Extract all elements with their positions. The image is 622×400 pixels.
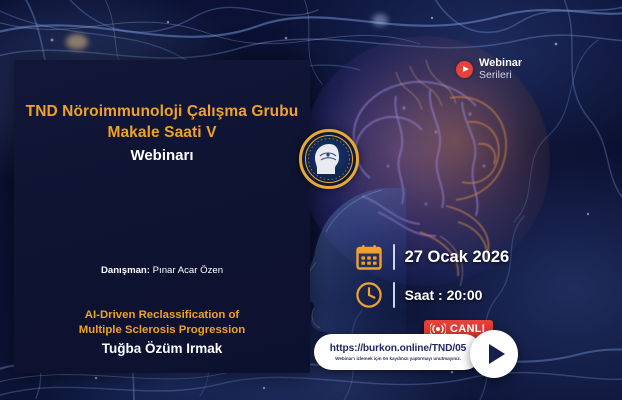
time-divider <box>393 282 395 308</box>
advisor-name: Pınar Acar Özen <box>153 265 223 276</box>
title-line-1: TND Nöroimmunoloji Çalışma Grubu <box>14 102 310 121</box>
topic-block: AI-Driven Reclassification of Multiple S… <box>14 308 310 360</box>
title-line-2: Makale Saati V <box>14 121 310 144</box>
registration-note: Webinar'ı izlemek için ön kaydınızı yapt… <box>335 356 461 361</box>
face-shape <box>297 188 406 358</box>
time-row: Saat : 20:00 <box>355 281 482 309</box>
clock-icon <box>355 281 383 309</box>
content-panel: TND Nöroimmunoloji Çalışma Grubu Makale … <box>14 60 310 373</box>
webinar-poster: TND Nöroimmunoloji Çalışma Grubu Makale … <box>0 0 622 400</box>
series-line-1: Webinar <box>479 58 522 70</box>
speaker-name: Tuğba Özüm Irmak <box>14 338 310 360</box>
date-value: 27 Ocak 2026 <box>405 248 510 267</box>
topic-line-2: Multiple Sclerosis Progression <box>14 323 310 338</box>
webinar-series-badge: Webinar Serileri <box>456 58 522 81</box>
tnd-society-emblem <box>299 129 359 189</box>
advisor-label: Danışman: <box>101 265 150 276</box>
title-line-3: Webinarı <box>14 144 310 168</box>
background-glow <box>66 34 88 50</box>
play-circle-icon <box>456 61 473 78</box>
time-value: Saat : 20:00 <box>405 287 483 303</box>
background-glow <box>372 14 388 26</box>
series-line-2: Serileri <box>479 70 522 81</box>
play-button-icon[interactable] <box>470 330 518 378</box>
calendar-icon <box>355 243 383 271</box>
registration-url-pill[interactable]: https://burkon.online/TND/05 Webinar'ı i… <box>314 334 482 370</box>
advisor-line: Danışman: Pınar Acar Özen <box>14 265 310 276</box>
series-text: Webinar Serileri <box>479 58 522 81</box>
date-divider <box>393 244 395 270</box>
registration-url[interactable]: https://burkon.online/TND/05 <box>330 343 466 354</box>
emblem-graphic <box>302 132 356 186</box>
topic-line-1: AI-Driven Reclassification of <box>14 308 310 323</box>
date-row: 27 Ocak 2026 <box>355 243 509 271</box>
title-block: TND Nöroimmunoloji Çalışma Grubu Makale … <box>14 102 310 168</box>
